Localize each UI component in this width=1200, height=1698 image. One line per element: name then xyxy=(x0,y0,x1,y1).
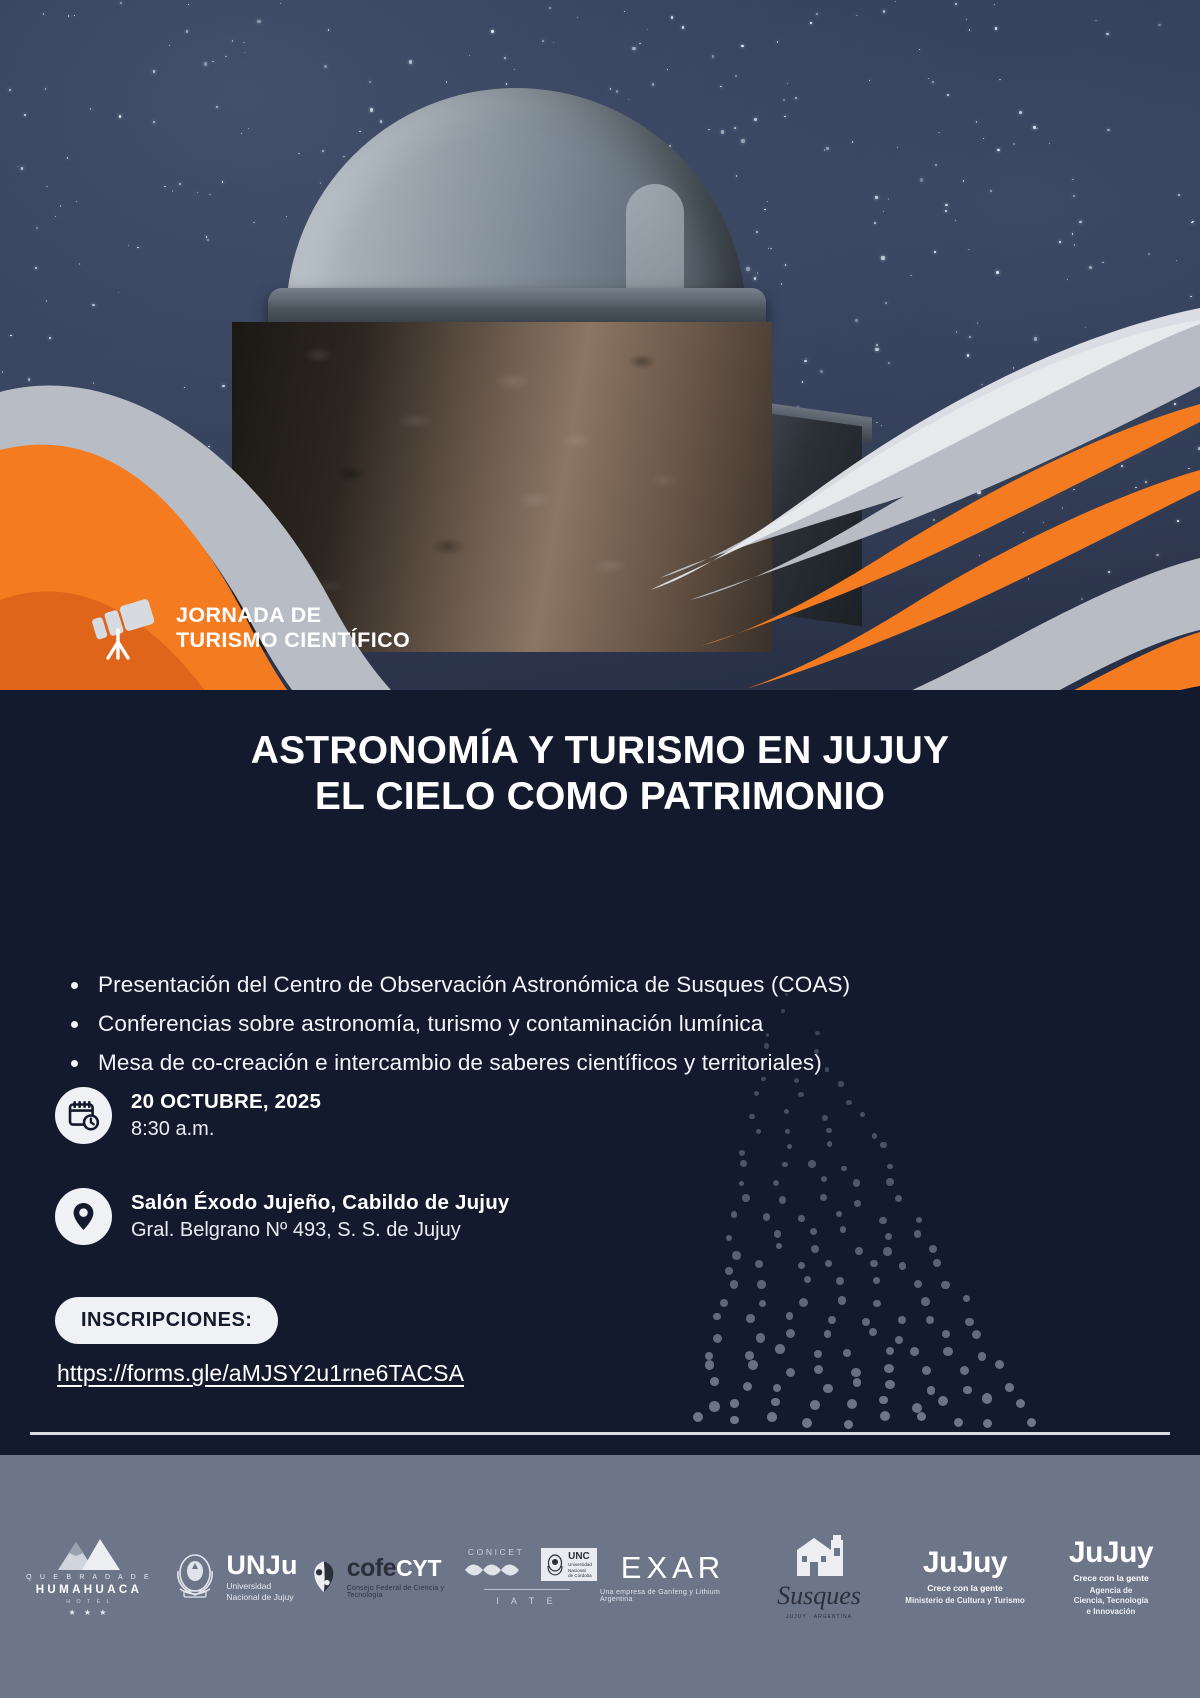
logo-quebrada-humahuaca: Q U E B R A D A D E HUMAHUACA H O T E L … xyxy=(16,1537,162,1617)
list-item: Mesa de co-creación e intercambio de sab… xyxy=(62,1046,992,1080)
list-item: Presentación del Centro de Observación A… xyxy=(62,968,992,1002)
page-title: ASTRONOMÍA Y TURISMO EN JUJUY EL CIELO C… xyxy=(0,728,1200,820)
telescope-icon xyxy=(88,596,162,660)
logo-cofecyt-word2: CYT xyxy=(396,1555,441,1582)
logo-humahuaca-kicker: Q U E B R A D A D E xyxy=(26,1574,152,1581)
date-row: 20 OCTUBRE, 2025 8:30 a.m. xyxy=(55,1087,695,1144)
logo-conicet-name: CONICET xyxy=(468,1547,524,1557)
logo-humahuaca-stars: ★ ★ ★ xyxy=(69,1608,110,1617)
church-icon xyxy=(783,1534,855,1578)
logo-exar-name: EXAR xyxy=(621,1550,725,1586)
logo-susques-sub: JUJUY · ARGENTINA xyxy=(786,1614,852,1620)
brand-text: JORNADA DE TURISMO CIENTÍFICO xyxy=(176,603,410,653)
brand-line-2: TURISMO CIENTÍFICO xyxy=(176,628,410,653)
mountains-icon xyxy=(52,1537,126,1571)
logo-jujuy-cultura-turismo: JuJuy Crece con la gente Ministerio de C… xyxy=(892,1546,1038,1606)
logo-unju: UNJu Universidad Nacional de Jujuy xyxy=(162,1550,308,1602)
poster-root: JORNADA DE TURISMO CIENTÍFICO ASTRONOMÍA… xyxy=(0,0,1200,1698)
location-pin-icon xyxy=(55,1188,112,1245)
sponsor-footer: Q U E B R A D A D E HUMAHUACA H O T E L … xyxy=(0,1455,1200,1698)
venue-text-block: Salón Éxodo Jujeño, Cabildo de Jujuy Gra… xyxy=(131,1190,510,1243)
brand-lockup: JORNADA DE TURISMO CIENTÍFICO xyxy=(88,596,410,660)
logo-jujuy-ministry: Ministerio de Cultura y Turismo xyxy=(905,1596,1024,1606)
logo-conicet-divider xyxy=(484,1589,570,1591)
event-date: 20 OCTUBRE, 2025 xyxy=(131,1089,321,1116)
divider xyxy=(30,1432,1170,1435)
conicet-infinity-icon xyxy=(457,1557,535,1583)
event-details: 20 OCTUBRE, 2025 8:30 a.m. Salón Éxodo J… xyxy=(55,1087,695,1289)
title-line-1: ASTRONOMÍA Y TURISMO EN JUJUY xyxy=(251,729,950,772)
logo-exar-sub: Una empresa de Ganfeng y Lithium Argenti… xyxy=(600,1589,746,1603)
logo-cofecyt-sub: Consejo Federal de Ciencia y Tecnología xyxy=(347,1585,454,1599)
unju-crest-icon xyxy=(172,1551,218,1603)
logo-unju-name: UNJu xyxy=(226,1550,297,1581)
logo-exar: EXAR Una empresa de Ganfeng y Lithium Ar… xyxy=(600,1550,746,1603)
logo-unc: UNC Universidad Nacional de Córdoba xyxy=(541,1548,597,1581)
title-line-2: EL CIELO COMO PATRIMONIO xyxy=(315,775,885,818)
venue-name: Salón Éxodo Jujeño, Cabildo de Jujuy xyxy=(131,1190,510,1217)
logo-unc-sub3: de Córdoba xyxy=(568,1573,592,1578)
logo-humahuaca-type: H O T E L xyxy=(66,1599,112,1605)
logo-susques: Susques JUJUY · ARGENTINA xyxy=(746,1534,892,1620)
logo-jujuy-agencia-ciencia: JuJuy Crece con la gente Agencia de Cien… xyxy=(1038,1536,1184,1617)
logo-jujuy-name-1: JuJuy xyxy=(923,1546,1007,1580)
logo-unju-sub1: Universidad xyxy=(226,1581,297,1592)
logo-iate-name: I A T E xyxy=(496,1596,557,1606)
agenda-list: Presentación del Centro de Observación A… xyxy=(62,968,992,1086)
logo-conicet-iate: CONICET UNC Universidad Nacional xyxy=(454,1547,600,1607)
logo-unju-sub2: Nacional de Jujuy xyxy=(226,1592,297,1603)
venue-row: Salón Éxodo Jujeño, Cabildo de Jujuy Gra… xyxy=(55,1188,695,1245)
logo-jujuy-agency: Agencia de Ciencia, Tecnología e Innovac… xyxy=(1074,1586,1149,1617)
logo-jujuy-tagline-2: Crece con la gente xyxy=(1073,1573,1149,1583)
status-badge: INSCRIPCIONES: xyxy=(55,1297,278,1344)
logo-unc-name: UNC xyxy=(568,1551,590,1562)
logo-cofecyt-word1: cofe xyxy=(347,1554,396,1583)
date-text-block: 20 OCTUBRE, 2025 8:30 a.m. xyxy=(131,1089,321,1142)
venue-address: Gral. Belgrano Nº 493, S. S. de Jujuy xyxy=(131,1217,510,1243)
list-item: Conferencias sobre astronomía, turismo y… xyxy=(62,1007,992,1041)
registration-link[interactable]: https://forms.gle/aMJSY2u1rne6TACSA xyxy=(57,1360,464,1387)
cofecyt-mark-icon xyxy=(308,1554,340,1600)
brand-line-1: JORNADA DE xyxy=(176,603,410,628)
event-time: 8:30 a.m. xyxy=(131,1116,321,1142)
logo-jujuy-tagline-1: Crece con la gente xyxy=(927,1583,1003,1593)
calendar-clock-icon xyxy=(55,1087,112,1144)
logo-cofecyt: cofe CYT Consejo Federal de Ciencia y Te… xyxy=(308,1554,454,1600)
unc-crest-icon xyxy=(546,1554,564,1576)
logo-jujuy-name-2: JuJuy xyxy=(1069,1536,1153,1570)
logo-susques-name: Susques xyxy=(777,1581,861,1611)
logo-humahuaca-name: HUMAHUACA xyxy=(36,1584,143,1596)
